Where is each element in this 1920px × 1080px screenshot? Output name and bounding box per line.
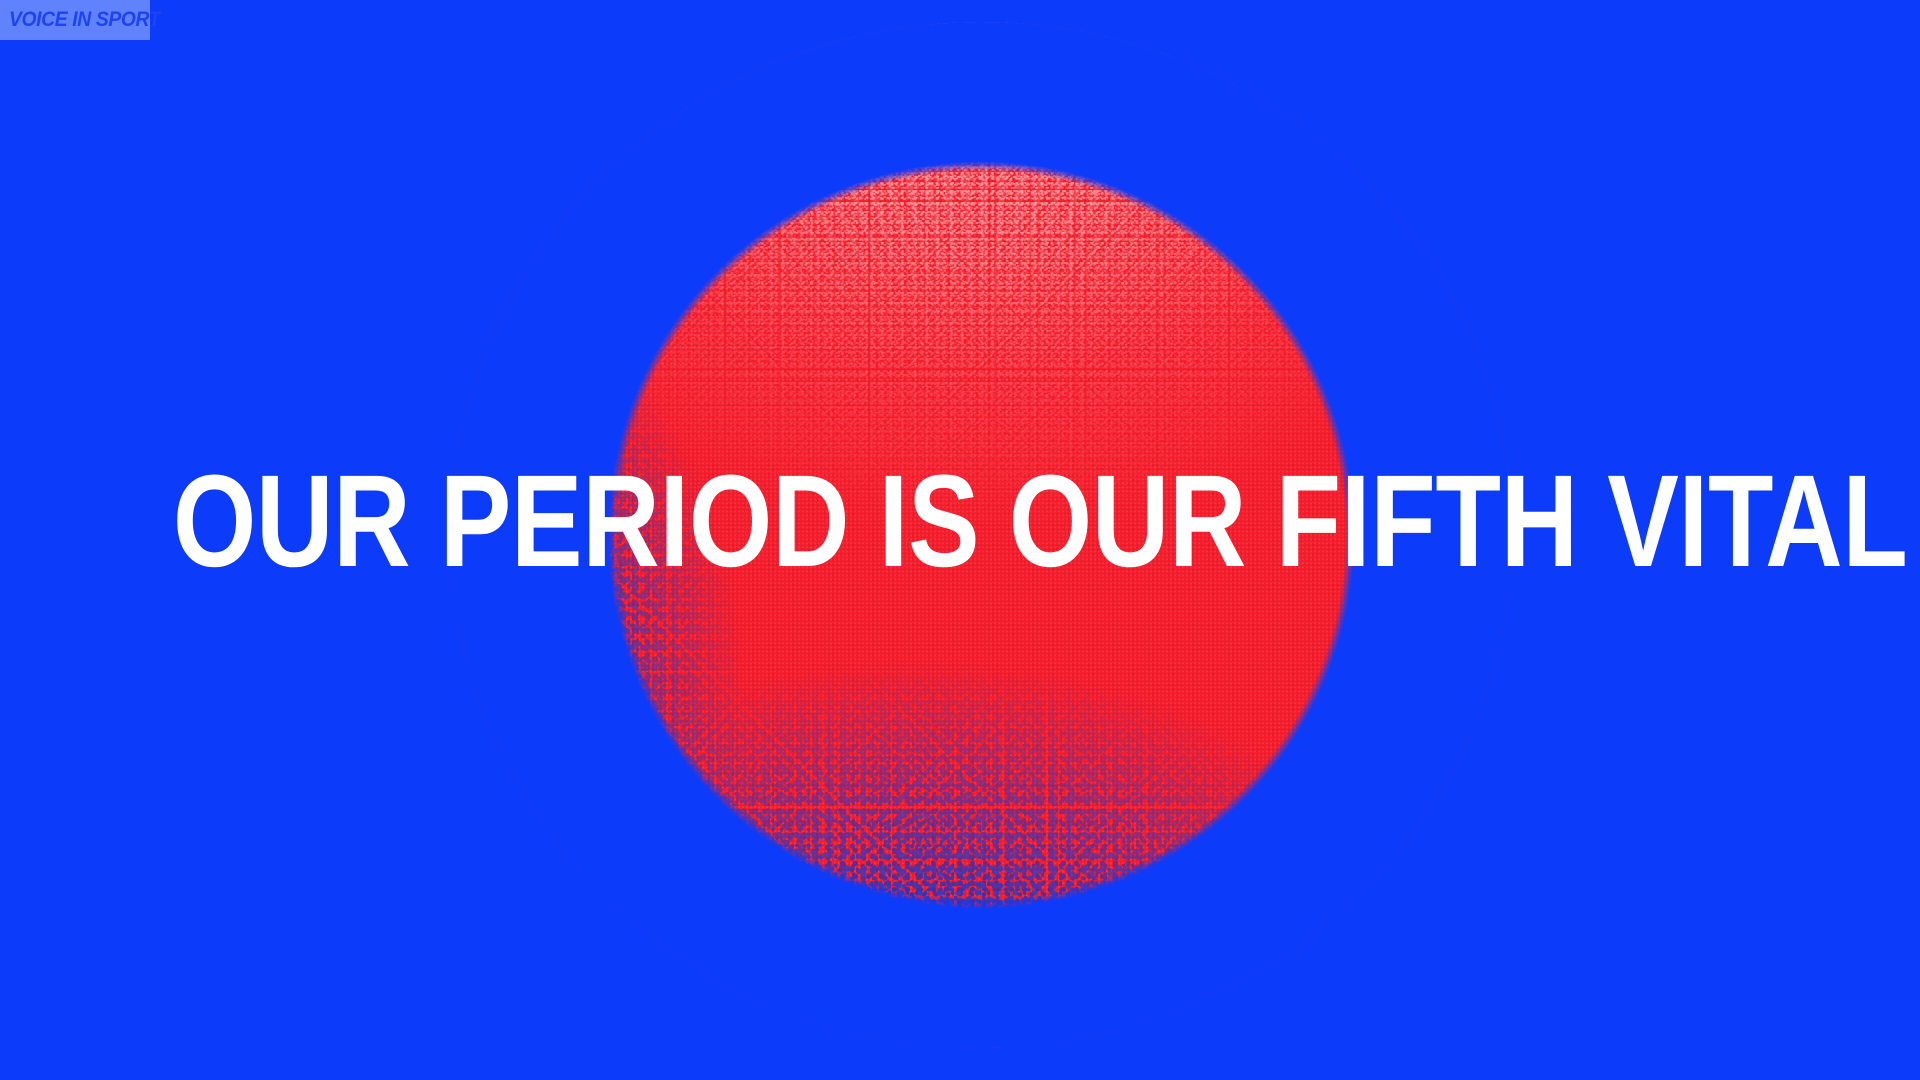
brand-logo[interactable]: VOICE IN SPORT <box>0 0 150 40</box>
voice-in-sport-wordmark-icon: VOICE IN SPORT <box>9 8 160 32</box>
page-title: OUR PERIOD IS OUR FIFTH VITAL SIGN <box>173 462 1747 580</box>
slide-canvas: OUR PERIOD IS OUR FIFTH VITAL SIGN VOICE… <box>0 0 1920 1080</box>
